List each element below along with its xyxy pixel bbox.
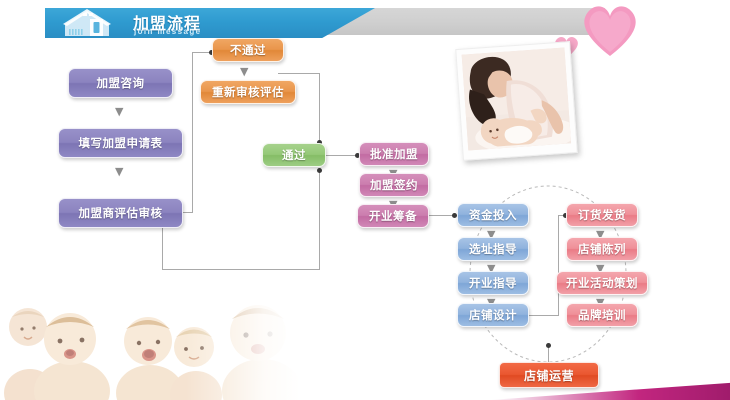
node-consult[interactable]: 加盟咨询 <box>68 68 173 98</box>
node-store-operation[interactable]: 店铺运营 <box>499 362 599 388</box>
node-review[interactable]: 加盟商评估审核 <box>58 198 183 228</box>
node-opening[interactable]: 开业指导 <box>457 271 529 295</box>
house-icon <box>63 9 125 38</box>
node-contract[interactable]: 加盟签约 <box>359 173 429 197</box>
photo-row-of-babies <box>0 283 300 400</box>
chevron-down-icon-1: ▼ <box>115 106 123 117</box>
node-display[interactable]: 店铺陈列 <box>566 237 638 261</box>
line-pass-to-approve <box>325 155 357 156</box>
line-reeval-down <box>319 73 320 141</box>
line-reeval-join <box>278 73 320 74</box>
node-training[interactable]: 品牌培训 <box>566 303 638 327</box>
node-order[interactable]: 订货发货 <box>566 203 638 227</box>
heart-icon-large <box>578 2 642 58</box>
line-storedsgn-out <box>528 315 559 316</box>
page-subtitle: join message <box>134 27 202 36</box>
dot-pass-bottom <box>317 168 322 173</box>
node-promotion[interactable]: 开业活动策划 <box>556 271 648 295</box>
node-reevaluate[interactable]: 重新审核评估 <box>200 80 296 104</box>
chevron-down-icon-2: ▼ <box>115 166 123 177</box>
dot-operate-in <box>546 343 551 348</box>
header-banner: 加盟流程 join message <box>45 8 605 38</box>
line-loop-up <box>192 52 193 213</box>
chevron-down-icon-3: ▼ <box>240 66 248 77</box>
slide-canvas: 加盟流程 join message <box>0 0 730 400</box>
node-store-design[interactable]: 店铺设计 <box>457 303 529 327</box>
node-prepare[interactable]: 开业筹备 <box>357 204 429 228</box>
line-setup-up <box>558 215 559 316</box>
photo-mother-and-baby <box>455 41 578 161</box>
node-funding[interactable]: 资金投入 <box>457 203 529 227</box>
node-fail[interactable]: 不通过 <box>212 38 284 62</box>
node-pass[interactable]: 通过 <box>262 143 326 167</box>
node-apply[interactable]: 填写加盟申请表 <box>58 128 183 158</box>
line-review-to-pass <box>162 269 320 270</box>
line-pass-stem-down <box>319 170 320 270</box>
node-approve[interactable]: 批准加盟 <box>359 142 429 166</box>
node-site[interactable]: 选址指导 <box>457 237 529 261</box>
